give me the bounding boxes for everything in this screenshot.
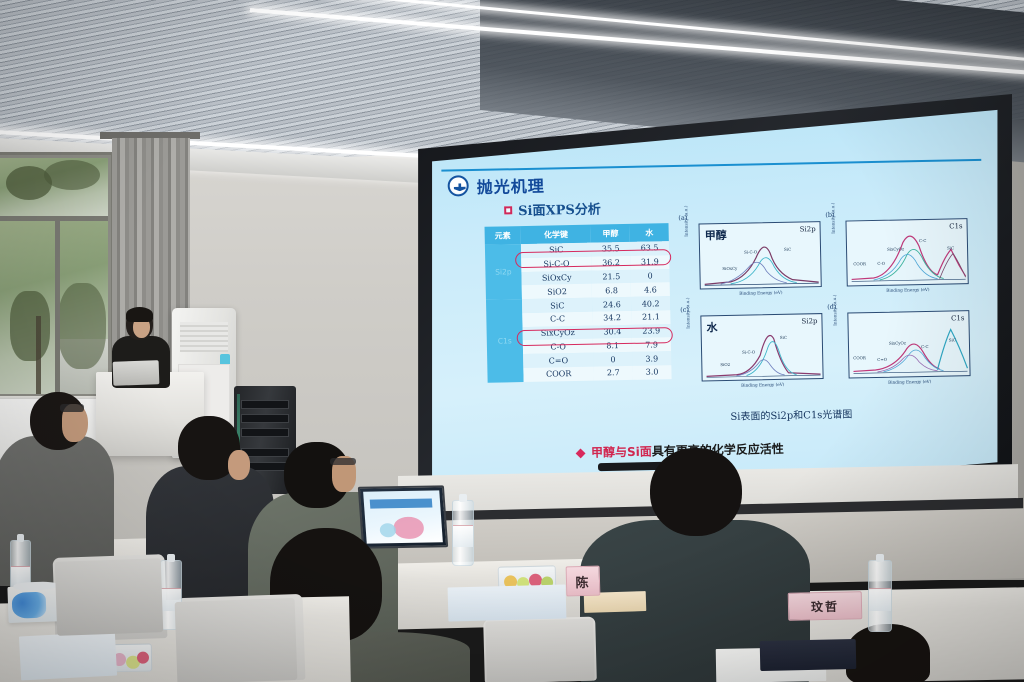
peak-annotation: Si-C-O [742,349,755,354]
cell-methanol: 34.2 [593,311,632,326]
cell-bond: SiOxCy [521,270,592,285]
plot-title-c: 水 [706,319,717,335]
x-axis-label-a: Binding Energy (eV) [700,289,822,296]
peak-annotation: SiC [947,245,954,250]
cell-water: 23.9 [632,324,671,339]
x-axis-label-b: Binding Energy (eV) [847,286,969,293]
laptop-slide-content [363,490,443,543]
cell-methanol: 35.5 [591,242,630,257]
peak-annotation: SixCyOz [887,246,904,251]
cell-bond: C-O [523,339,594,354]
audience-head [650,448,742,536]
peak-annotation: SixCyOz [889,340,906,345]
laptop-content-bar [370,499,433,509]
plot-area-c: 水 Si2p Si-C-O SiC SiO2 [700,313,823,381]
laptop-lid[interactable] [175,598,298,682]
tree-foliage [58,283,106,369]
peak-annotation: SiC [949,337,956,342]
cell-methanol: 30.4 [593,325,632,340]
plot-title-a: 甲醇 [705,227,727,243]
plot-orbital-a: Si2p [800,225,816,233]
laptop-content-graphic [393,517,425,539]
spectrum-panel-d: (d) Intensity (a.u.) C1s COOR C=O SixCyO… [833,305,975,396]
tissue-sheet [13,581,57,591]
cell-water: 31.9 [630,255,669,270]
peak-annotation: C-C [921,344,929,349]
window-mullion [55,221,60,394]
ac-vent-grill [180,322,228,352]
bottle-label [453,525,473,547]
laptop-lid[interactable] [485,619,595,682]
figure-caption: Si表面的Si2p和C1s光谱图 [730,405,852,422]
bottle-label [869,588,891,612]
cell-water: 7.9 [632,338,671,353]
cell-bond: SiO2 [522,284,593,299]
university-emblem-icon [447,175,468,196]
element-group-si2p: Si2p [485,244,522,300]
laptop-content-graphic [379,523,396,537]
rack-slot [241,414,289,423]
cell-bond: SiC [522,298,593,313]
water-bottle[interactable] [868,560,892,632]
eyeglasses-icon [330,458,356,465]
peak-annotation: COOR [853,355,866,360]
xps-data-table: 元素 化学键 甲醇 水 Si2p SiC 35.5 63.5 [485,223,672,382]
spectrum-panel-c: (c) Intensity (a.u.) 水 Si2p Si-C-O SiC S… [686,308,828,399]
rack-slot [241,400,289,409]
xps-table-body: Si2p SiC 35.5 63.5 Si-C-O 36.2 31.9 SiOx… [485,241,672,382]
document-sheet[interactable] [19,632,117,681]
cell-methanol: 8.1 [593,338,632,353]
peak-annotation: C-C [919,238,927,243]
presenter-hair [126,307,153,322]
cell-water: 4.6 [631,282,670,297]
cell-methanol: 36.2 [592,256,631,271]
cell-methanol: 6.8 [592,283,631,298]
x-axis-label-d: Binding Energy (eV) [849,378,971,385]
window-pane-upper [0,158,108,216]
peak-annotation: SiOxCy [722,266,737,271]
conference-room-photo: 抛光机理 Si面XPS分析 元素 化学键 甲醇 水 [0,0,1024,682]
col-header-element: 元素 [485,226,521,245]
cell-water: 0 [631,269,670,284]
cell-methanol: 2.7 [594,366,633,381]
element-group-c1s: C1s [486,299,524,382]
slide-subtitle: Si面XPS分析 [518,198,601,219]
cell-bond: SixCyOz [523,325,594,340]
col-header-methanol: 甲醇 [591,224,630,243]
slide-title: 抛光机理 [476,173,544,198]
water-bottle[interactable] [452,500,474,566]
peak-annotation: C-O [877,261,885,266]
cell-bond: C-C [522,312,593,327]
peak-annotation: Si-C-O [744,249,757,254]
nameplate: 陈 [566,566,601,597]
peak-annotation: C=O [877,357,887,362]
peak-annotation: SiO2 [720,362,730,367]
tissue-box-graphic [12,592,47,619]
fruit-item [137,652,149,664]
audience-laptop-screen[interactable] [358,485,448,548]
y-axis-label-c: Intensity (a.u.) [685,297,691,328]
plot-area-a: 甲醇 Si2p Si-C-O SiC SiOxCy [698,221,821,289]
xps-spectra-grid: (a) Intensity (a.u.) 甲醇 Si2p Si-C-O SiC … [676,209,980,405]
nameplate: 玟哲 [788,591,863,621]
window-frame [0,152,114,400]
cell-water: 63.5 [630,241,669,256]
plot-area-b: C1s COOR C-O SixCyOz C-C SiC [845,218,968,286]
tree-trunk [36,316,41,394]
col-header-water: 水 [630,223,669,242]
plot-area-d: C1s COOR C=O SixCyOz C-C SiC [847,310,970,378]
plot-orbital-d: C1s [951,314,965,322]
laptop-lid[interactable] [55,558,164,636]
plot-orbital-c: Si2p [801,317,817,325]
y-axis-label-d: Intensity (a.u.) [832,295,838,326]
window-mullion [0,216,108,221]
peak-annotation: SiC [780,335,787,340]
document-sheet[interactable] [448,584,567,621]
cell-methanol: 0 [593,352,632,367]
rack-slot [241,428,289,437]
eyeglasses-icon [60,404,84,412]
cell-water: 3.0 [633,365,672,380]
x-axis-label-c: Binding Energy (eV) [702,381,824,388]
cell-methanol: 24.6 [592,297,631,312]
audience-hand [228,450,250,480]
conclusion-highlight: 甲醇与Si面 [591,444,652,459]
presentation-slide: 抛光机理 Si面XPS分析 元素 化学键 甲醇 水 [424,94,1002,512]
cell-water: 3.9 [632,351,671,366]
cell-water: 40.2 [631,296,670,311]
subtitle-bullet-icon [504,206,512,214]
window-pane-main [0,221,108,394]
col-header-bond: 化学键 [521,225,592,244]
spectrum-panel-b: (b) Intensity (a.u.) C1s COOR C-O SixCyO… [831,213,973,304]
y-axis-label-a: Intensity (a.u.) [683,206,689,237]
y-axis-label-b: Intensity (a.u.) [830,203,836,234]
cell-water: 21.1 [631,310,670,325]
cell-bond: Si-C-O [521,256,592,271]
tree-foliage [10,291,50,361]
peak-annotation: SiC [784,247,791,252]
notebook[interactable] [760,639,857,671]
spectrum-panel-a: (a) Intensity (a.u.) 甲醇 Si2p Si-C-O SiC … [684,216,826,307]
plot-orbital-b: C1s [949,222,963,230]
tree-foliage [44,160,100,190]
audience-head [846,624,930,682]
peak-annotation: COOR [853,261,866,266]
cell-bond: SiC [521,243,592,258]
cell-bond: COOR [523,367,594,382]
slide-header-rule [441,159,981,172]
diamond-bullet-icon [576,448,586,458]
cell-methanol: 21.5 [592,269,631,284]
cell-bond: C=O [523,353,594,368]
podium-laptop [113,360,160,386]
